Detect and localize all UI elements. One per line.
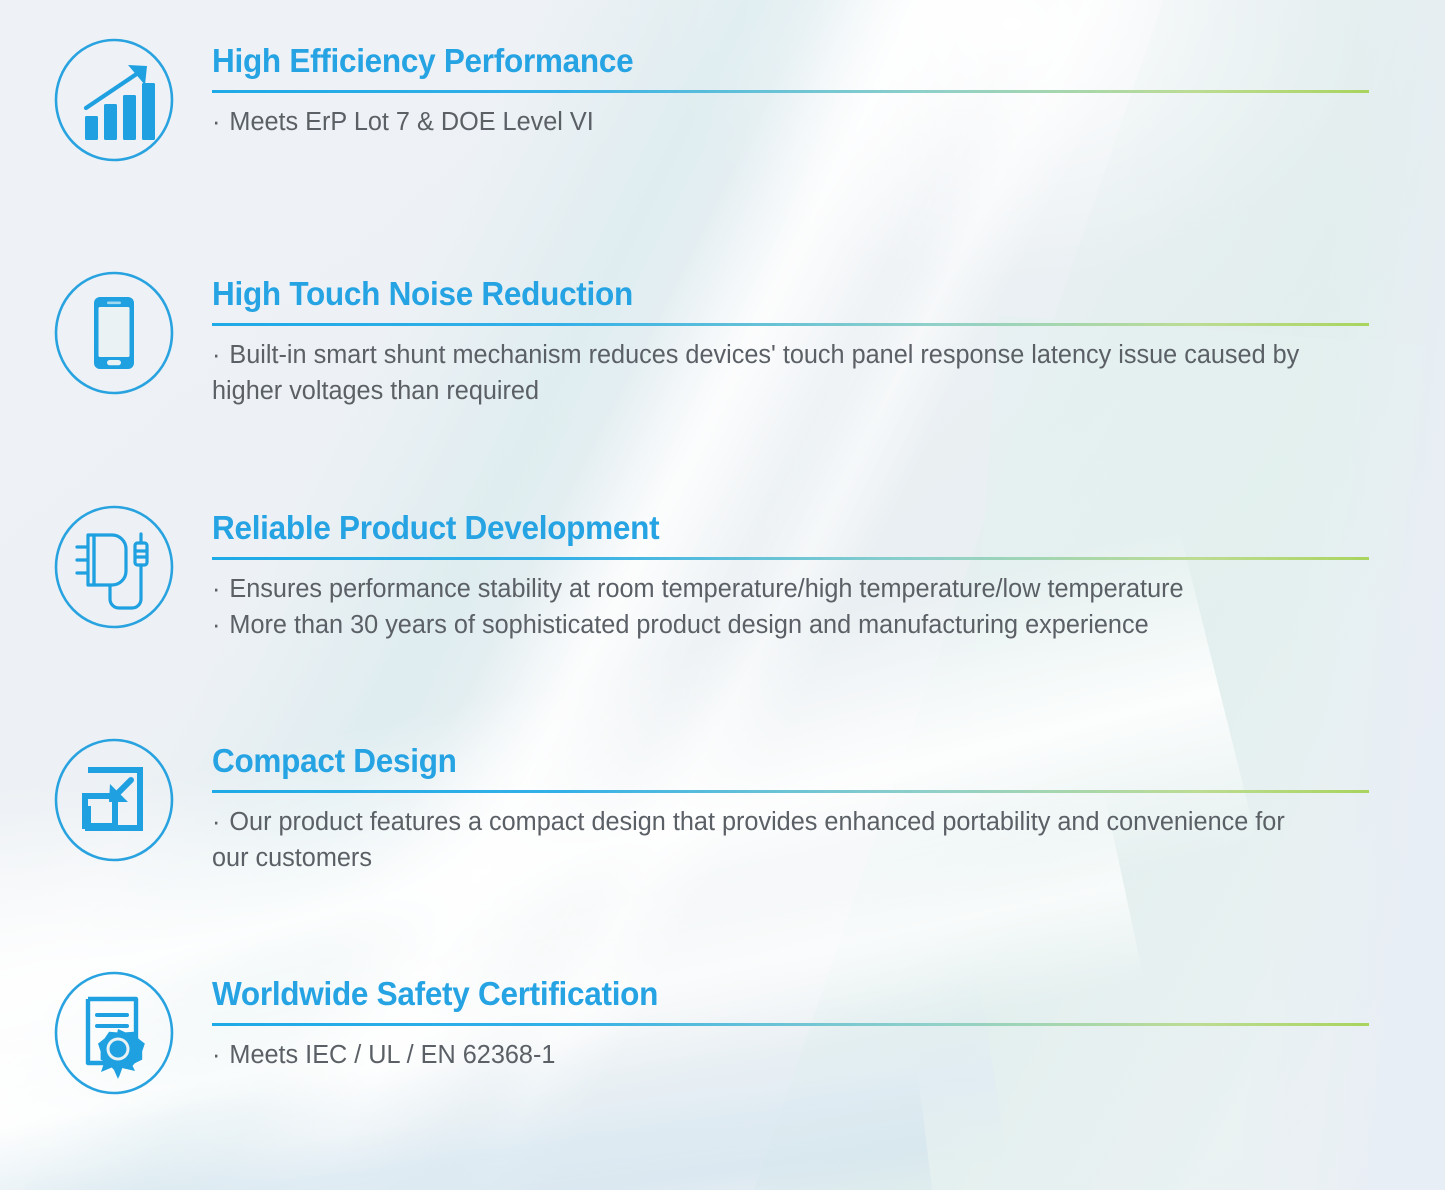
title-divider (212, 557, 1369, 560)
title-divider (212, 90, 1369, 93)
feature-title: Reliable Product Development (212, 511, 1317, 546)
feature-item-reliable-product-development: Reliable Product Development · Ensures p… (0, 505, 1369, 644)
description-text: Meets ErP Lot 7 & DOE Level VI (229, 108, 593, 136)
title-divider (212, 790, 1369, 793)
bullet-marker: · (212, 1041, 222, 1069)
feature-title: High Touch Noise Reduction (212, 277, 1329, 312)
bullet-marker: · (212, 341, 222, 369)
bullet-marker: · (212, 575, 222, 603)
feature-item-high-touch-noise-reduction: High Touch Noise Reduction · Built-in sm… (0, 271, 1382, 410)
feature-item-compact-design: Compact Design · Our product features a … (0, 738, 1369, 877)
feature-title: High Efficiency Performance (212, 44, 1317, 79)
title-divider (212, 323, 1369, 326)
feature-title: Compact Design (212, 744, 1317, 779)
feature-item-worldwide-safety-certification: Worldwide Safety Certification · Meets I… (0, 971, 1369, 1095)
certificate-seal-icon (52, 971, 176, 1095)
feature-item-high-efficiency-performance: High Efficiency Performance · Meets ErP … (0, 38, 1369, 162)
description-line: · Built-in smart shunt mechanism reduces… (212, 337, 1370, 410)
feature-description: · Built-in smart shunt mechanism reduces… (212, 337, 1382, 410)
description-line: · Meets IEC / UL / EN 62368-1 (212, 1037, 1357, 1074)
feature-description: · Our product features a compact design … (212, 804, 1369, 877)
description-text: More than 30 years of sophisticated prod… (229, 611, 1148, 639)
description-line: · Meets ErP Lot 7 & DOE Level VI (212, 104, 1357, 141)
description-text: Built-in smart shunt mechanism reduces d… (212, 341, 1299, 406)
bar-chart-growth-icon (52, 38, 176, 162)
bullet-marker: · (212, 611, 222, 639)
power-adapter-icon (52, 505, 176, 629)
feature-description: · Meets IEC / UL / EN 62368-1 (212, 1037, 1369, 1074)
description-text: Ensures performance stability at room te… (229, 575, 1183, 603)
description-line: · More than 30 years of sophisticated pr… (212, 607, 1357, 644)
smartphone-icon (52, 271, 176, 395)
feature-list: High Efficiency Performance · Meets ErP … (0, 0, 1445, 1190)
feature-description: · Meets ErP Lot 7 & DOE Level VI (212, 104, 1369, 141)
description-line: · Ensures performance stability at room … (212, 571, 1357, 608)
description-text: Our product features a compact design th… (212, 808, 1285, 873)
description-text: Meets IEC / UL / EN 62368-1 (229, 1041, 555, 1069)
title-divider (212, 1023, 1369, 1026)
description-line: · Our product features a compact design … (212, 804, 1311, 877)
bullet-marker: · (212, 808, 222, 836)
feature-title: Worldwide Safety Certification (212, 977, 1317, 1012)
feature-description: · Ensures performance stability at room … (212, 571, 1369, 644)
bullet-marker: · (212, 108, 222, 136)
compact-resize-icon (52, 738, 176, 862)
